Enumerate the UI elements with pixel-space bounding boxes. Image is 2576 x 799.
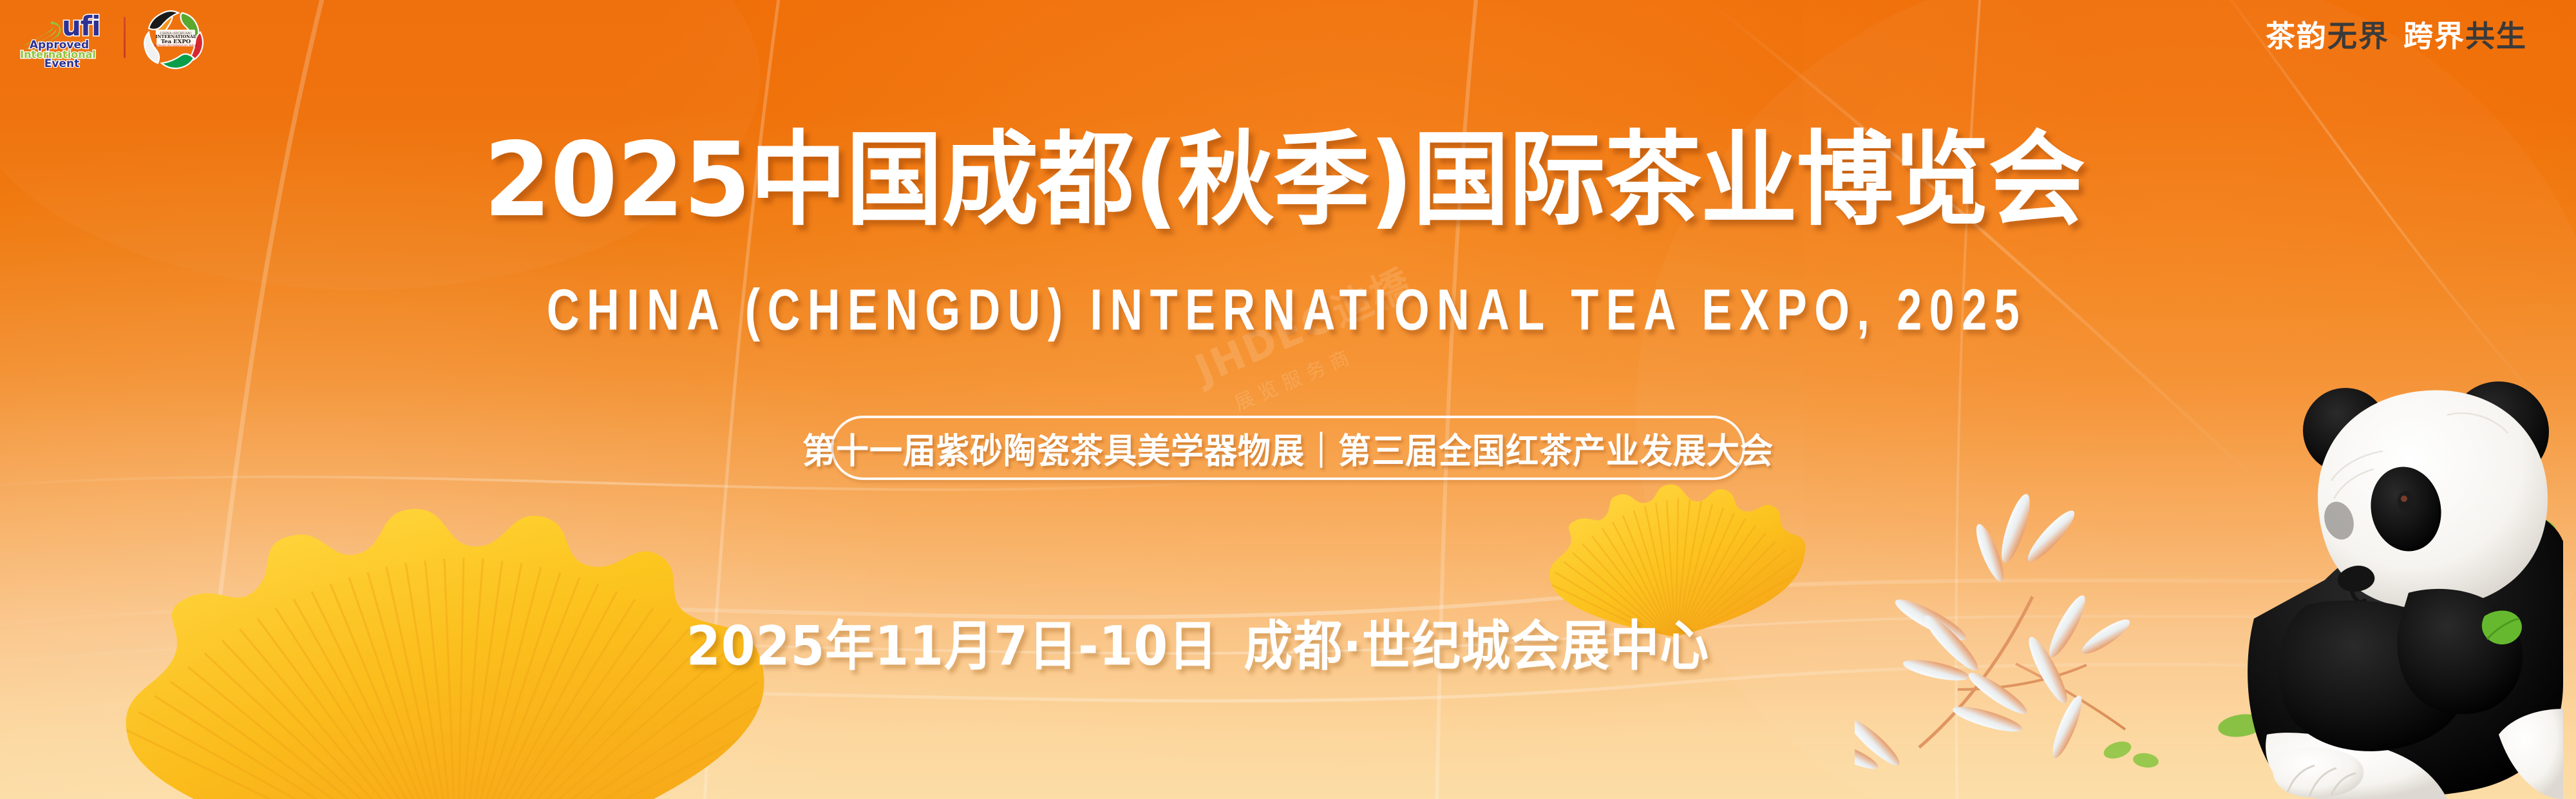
event-slogan: 茶韵无界跨界共生 <box>2266 13 2527 55</box>
english-title: CHINA (CHENGDU) INTERNATIONAL TEA EXPO, … <box>63 276 2510 343</box>
slogan-part-2: 无界 <box>2327 19 2389 53</box>
logo-divider <box>124 17 126 58</box>
logo-bar: ufi Approved International Event CHINA (… <box>14 5 209 70</box>
slogan-part-4: 共生 <box>2465 19 2527 53</box>
sub-exhibitions-text: 第十一届紫砂陶瓷茶具美学器物展｜第三届全国红茶产业发展大会 <box>802 423 1774 473</box>
main-title: 2025中国成都(秋季)国际茶业博览会 <box>0 130 2572 232</box>
slogan-part-1: 茶韵 <box>2266 19 2327 53</box>
date-and-venue: 2025年11月7日-10日成都·世纪城会展中心 <box>0 602 2486 680</box>
slogan-part-3: 跨界 <box>2403 19 2465 53</box>
event-date: 2025年11月7日-10日 <box>687 614 1218 677</box>
tea-expo-logo[interactable]: CHINA (SICHUAN) INTERNATIONAL Tea EXPO A… <box>140 5 209 70</box>
svg-text:Event: Event <box>44 57 79 68</box>
svg-text:ufi: ufi <box>62 10 100 42</box>
ufi-logo[interactable]: ufi Approved International Event <box>14 7 109 68</box>
sub-exhibitions-pill: 第十一届紫砂陶瓷茶具美学器物展｜第三届全国红茶产业发展大会 <box>831 416 1745 480</box>
svg-text:And People Discrimination Art,: And People Discrimination Art, Refresh <box>153 44 198 47</box>
panda-illustration <box>2048 348 2576 799</box>
tea-expo-banner: ufi Approved International Event CHINA (… <box>0 0 2576 799</box>
event-venue: 成都·世纪城会展中心 <box>1244 614 1709 677</box>
